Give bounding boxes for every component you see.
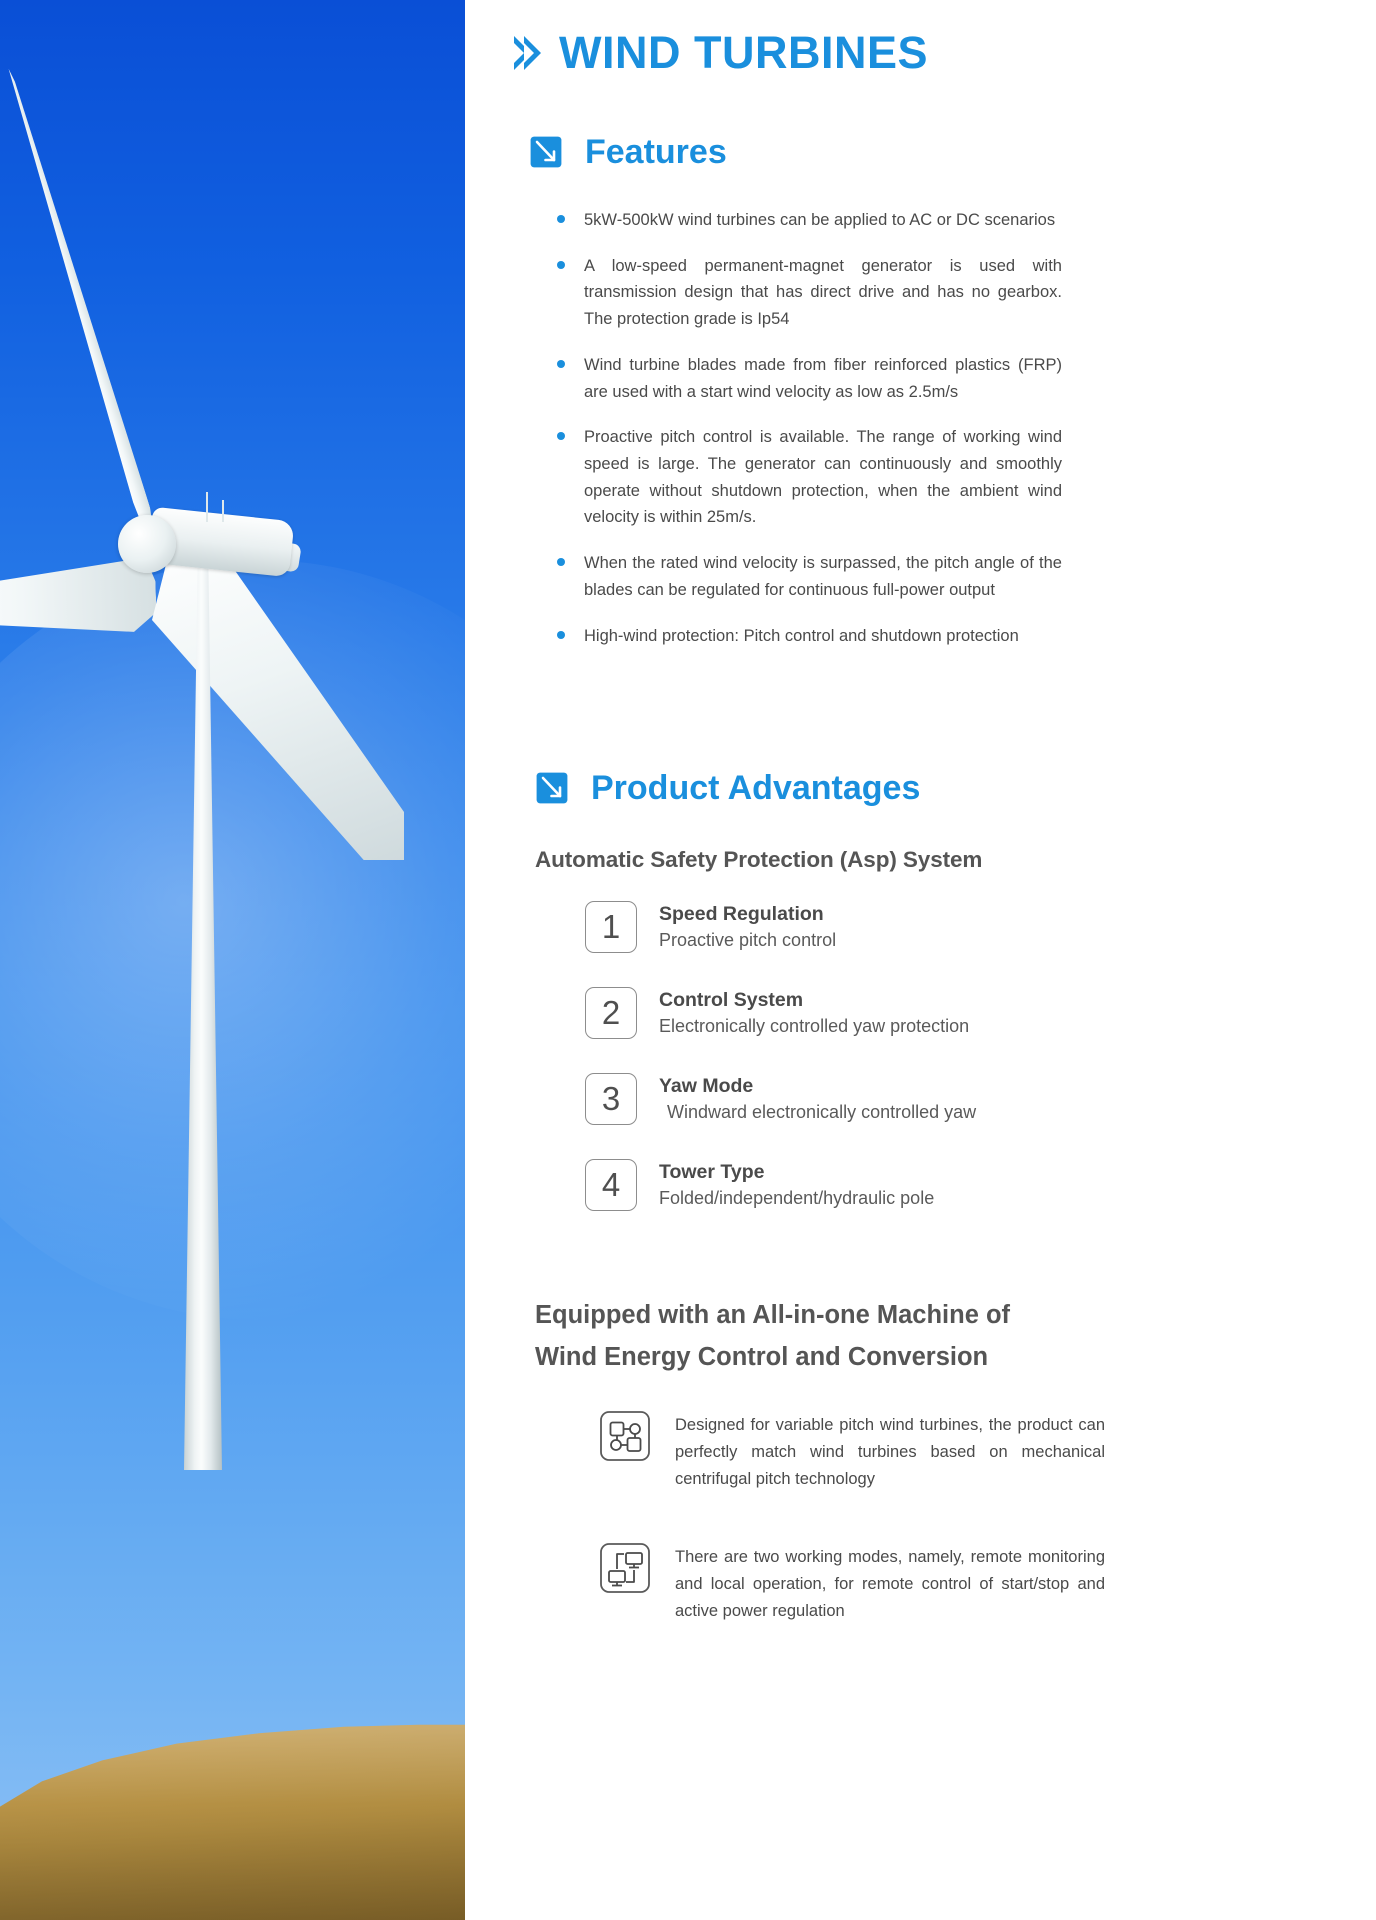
advantages-title: Product Advantages: [591, 771, 920, 805]
step-subtitle: Folded/independent/hydraulic pole: [659, 1187, 934, 1210]
list-item: Proactive pitch control is available. Th…: [557, 424, 1062, 531]
page-title: WIND TURBINES: [559, 30, 928, 75]
square-diagonal-arrow-icon: [529, 135, 563, 169]
list-item: There are two working modes, namely, rem…: [599, 1542, 1316, 1626]
equipped-heading: Equipped with an All-in-one Machine of W…: [535, 1295, 1065, 1378]
remote-monitors-icon: [599, 1542, 651, 1594]
bullet-text: A low-speed permanent-magnet generator i…: [584, 257, 1062, 328]
turbine-blade-right: [152, 560, 404, 860]
bullet-text: When the rated wind velocity is surpasse…: [584, 554, 1062, 599]
bullet-dot-icon: [557, 432, 565, 440]
step-number-badge: 2: [585, 987, 637, 1039]
step-title: Yaw Mode: [659, 1074, 976, 1098]
bullet-dot-icon: [557, 558, 565, 566]
turbine-illustration: [0, 0, 465, 1920]
list-item: High-wind protection: Pitch control and …: [557, 623, 1062, 650]
advantages-section-header: Product Advantages: [535, 771, 1316, 805]
wind-turbine-photograph: [0, 0, 465, 1920]
network-nodes-icon: [599, 1410, 651, 1462]
turbine-hub: [118, 515, 176, 573]
list-item: A low-speed permanent-magnet generator i…: [557, 253, 1062, 333]
step-title: Tower Type: [659, 1160, 934, 1184]
features-title: Features: [585, 135, 727, 169]
asp-system-heading: Automatic Safety Protection (Asp) System: [535, 847, 1316, 873]
features-bullet-list: 5kW-500kW wind turbines can be applied t…: [521, 207, 1316, 649]
turbine-blade-upper: [0, 67, 156, 531]
content-column: WIND TURBINES Features 5kW-500kW wind tu…: [465, 0, 1376, 1920]
step-subtitle: Electronically controlled yaw protection: [659, 1015, 969, 1038]
equipped-feature-list: Designed for variable pitch wind turbine…: [599, 1410, 1316, 1625]
bullet-dot-icon: [557, 261, 565, 269]
feature-text: There are two working modes, namely, rem…: [675, 1542, 1105, 1626]
step-subtitle: Proactive pitch control: [659, 929, 836, 952]
list-item: 4 Tower Type Folded/independent/hydrauli…: [585, 1159, 1316, 1211]
features-section-header: Features: [529, 135, 1316, 169]
turbine-tower: [184, 560, 222, 1470]
list-item: Designed for variable pitch wind turbine…: [599, 1410, 1316, 1494]
asp-numbered-list: 1 Speed Regulation Proactive pitch contr…: [585, 901, 1316, 1211]
bullet-dot-icon: [557, 631, 565, 639]
bullet-text: Wind turbine blades made from fiber rein…: [584, 356, 1062, 401]
list-item: 3 Yaw Mode Windward electronically contr…: [585, 1073, 1316, 1125]
step-number-badge: 1: [585, 901, 637, 953]
step-number-badge: 3: [585, 1073, 637, 1125]
bullet-text: High-wind protection: Pitch control and …: [584, 627, 1019, 645]
feature-text: Designed for variable pitch wind turbine…: [675, 1410, 1105, 1494]
step-title: Speed Regulation: [659, 902, 836, 926]
turbine-mast-secondary: [222, 500, 224, 522]
bullet-dot-icon: [557, 360, 565, 368]
step-title: Control System: [659, 988, 969, 1012]
page-header: WIND TURBINES: [521, 30, 1316, 75]
step-number-badge: 4: [585, 1159, 637, 1211]
brochure-page: WIND TURBINES Features 5kW-500kW wind tu…: [0, 0, 1376, 1920]
list-item: 5kW-500kW wind turbines can be applied t…: [557, 207, 1062, 234]
step-subtitle: Windward electronically controlled yaw: [659, 1101, 976, 1124]
bullet-dot-icon: [557, 215, 565, 223]
double-chevron-right-icon: [521, 36, 541, 70]
bullet-text: Proactive pitch control is available. Th…: [584, 428, 1062, 526]
list-item: Wind turbine blades made from fiber rein…: [557, 352, 1062, 405]
turbine-mast: [206, 492, 208, 522]
square-diagonal-arrow-icon: [535, 771, 569, 805]
list-item: 2 Control System Electronically controll…: [585, 987, 1316, 1039]
list-item: When the rated wind velocity is surpasse…: [557, 550, 1062, 603]
bullet-text: 5kW-500kW wind turbines can be applied t…: [584, 211, 1055, 229]
advantages-section: Product Advantages Automatic Safety Prot…: [521, 771, 1316, 1625]
list-item: 1 Speed Regulation Proactive pitch contr…: [585, 901, 1316, 953]
